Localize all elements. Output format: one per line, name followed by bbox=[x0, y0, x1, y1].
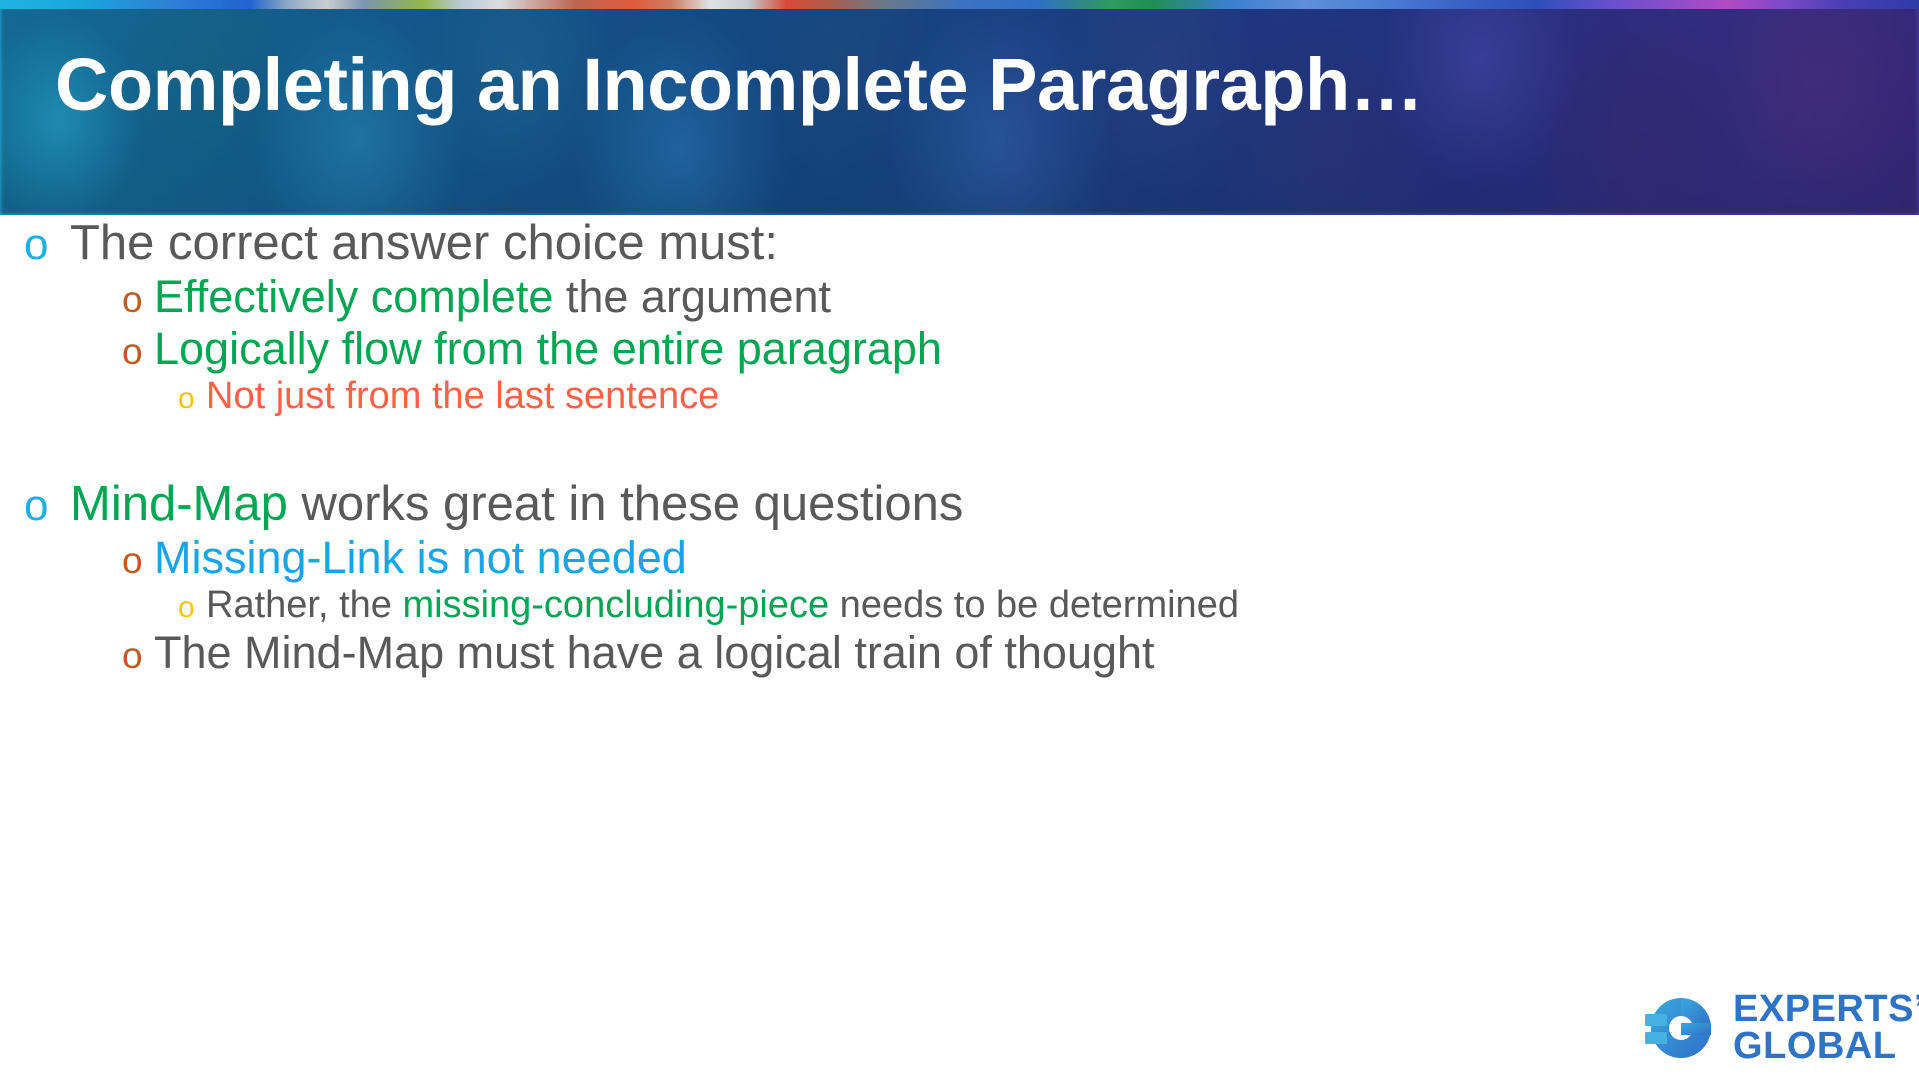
text-run-green: Logically flow from the entire paragraph bbox=[154, 323, 942, 374]
bullet-text: Effectively complete the argument bbox=[154, 271, 831, 323]
bullet-text: Mind-Map works great in these questions bbox=[70, 476, 963, 532]
bullet-marker-level1-icon: o bbox=[24, 223, 70, 267]
text-run-gray: Rather, the bbox=[206, 584, 402, 626]
text-run-cyan: Missing-Link is not needed bbox=[154, 532, 687, 583]
bullet-marker-level1-icon: o bbox=[24, 484, 70, 528]
bullet-marker-level2-icon: o bbox=[122, 637, 154, 674]
bullet-list: oThe correct answer choice must:oEffecti… bbox=[0, 215, 1919, 679]
bullet-item-missing-concluding-piece: oRather, the missing-concluding-piece ne… bbox=[0, 584, 1919, 627]
text-run-gray: The correct answer choice must: bbox=[70, 216, 778, 270]
banner-top-color-strip bbox=[0, 0, 1919, 9]
bullet-text: Missing-Link is not needed bbox=[154, 532, 687, 584]
experts-global-wordmark: EXPERTS’ GLOBAL bbox=[1733, 991, 1919, 1065]
bullet-item-missing-link-not-needed: oMissing-Link is not needed bbox=[0, 532, 1919, 584]
text-run-green: missing-concluding-piece bbox=[402, 584, 829, 626]
page-title: Completing an Incomplete Paragraph… bbox=[55, 48, 1905, 122]
bullet-marker-level2-icon: o bbox=[122, 333, 154, 370]
bullet-text: Logically flow from the entire paragraph bbox=[154, 323, 942, 375]
bullet-marker-level3-icon: o bbox=[178, 384, 206, 414]
bullet-text: Not just from the last sentence bbox=[206, 375, 719, 418]
slide-body: oThe correct answer choice must:oEffecti… bbox=[0, 215, 1919, 1079]
bullet-text: The correct answer choice must: bbox=[70, 215, 778, 271]
bullet-item-effectively-complete: oEffectively complete the argument bbox=[0, 271, 1919, 323]
bullet-item-mind-map-works-great: oMind-Map works great in these questions bbox=[0, 476, 1919, 532]
bullet-spacer bbox=[0, 418, 1919, 476]
text-run-gray: The Mind-Map must have a logical train o… bbox=[154, 627, 1155, 678]
text-run-gray: the argument bbox=[553, 271, 831, 322]
text-run-gray: works great in these questions bbox=[288, 477, 963, 531]
bullet-text: Rather, the missing-concluding-piece nee… bbox=[206, 584, 1239, 627]
bullet-item-logical-train-of-thought: oThe Mind-Map must have a logical train … bbox=[0, 627, 1919, 679]
experts-global-g-mark-icon bbox=[1641, 992, 1719, 1064]
text-run-green: Effectively complete bbox=[154, 271, 553, 322]
bullet-marker-level3-icon: o bbox=[178, 593, 206, 623]
text-run-green: Mind-Map bbox=[70, 477, 288, 531]
bullet-marker-level2-icon: o bbox=[122, 542, 154, 579]
logo-line-2: GLOBAL bbox=[1733, 1028, 1919, 1065]
text-run-coral: Not just from the last sentence bbox=[206, 375, 719, 417]
bullet-text: The Mind-Map must have a logical train o… bbox=[154, 627, 1155, 679]
bullet-item-logically-flow: oLogically flow from the entire paragrap… bbox=[0, 323, 1919, 375]
bullet-marker-level2-icon: o bbox=[122, 281, 154, 318]
text-run-gray: needs to be determined bbox=[829, 584, 1239, 626]
slide-header-banner: Completing an Incomplete Paragraph… bbox=[0, 0, 1919, 215]
experts-global-logo: EXPERTS’ GLOBAL bbox=[1641, 991, 1919, 1065]
bullet-item-correct-answer-choice: oThe correct answer choice must: bbox=[0, 215, 1919, 271]
logo-line-1: EXPERTS’ bbox=[1733, 991, 1919, 1028]
bullet-item-not-just-last-sentence: oNot just from the last sentence bbox=[0, 375, 1919, 418]
